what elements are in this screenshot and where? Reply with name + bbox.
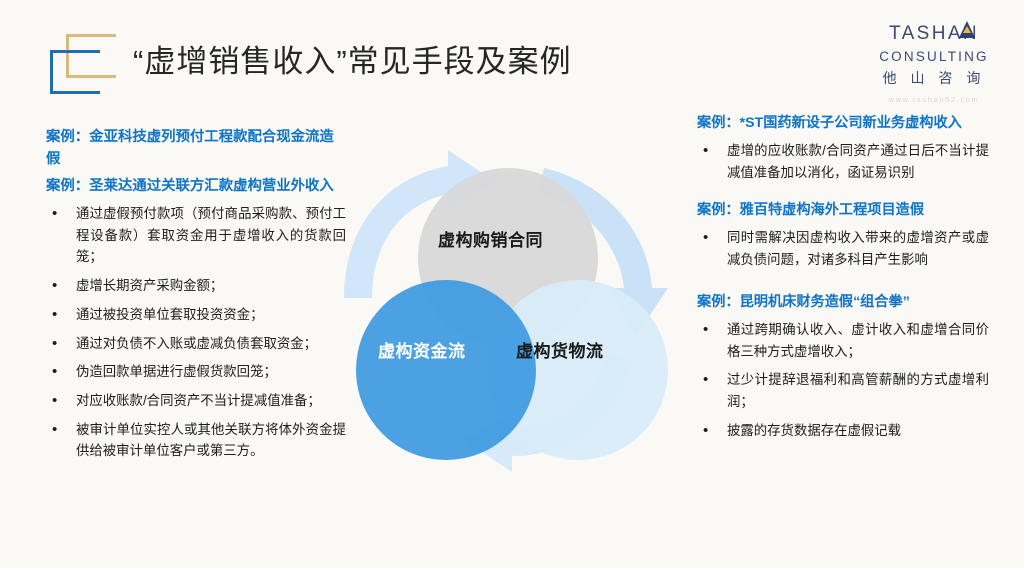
- venn-label-goods-flow: 虚构货物流: [516, 337, 604, 362]
- left-case-title-1: 案例：金亚科技虚列预付工程款配合现金流造假: [46, 126, 346, 171]
- list-item: 被审计单位实控人或其他关联方将体外资金提供给被审计单位客户或第三方。: [46, 419, 346, 462]
- venn-label-contract: 虚构购销合同: [438, 226, 543, 251]
- brand-subtitle: CONSULTING: [872, 50, 996, 64]
- list-item: 通过被投资单位套取投资资金；: [46, 304, 346, 326]
- slide-header: “虚增销售收入”常见手段及案例 TASHAN CONSULTING 他 山 咨 …: [0, 0, 1024, 110]
- right-case-title-3: 案例：昆明机床财务造假“组合拳”: [697, 291, 989, 313]
- right-bullet-list-1: 虚增的应收账款/合同资产通过日后不当计提减值准备加以消化，函证易识别: [697, 140, 989, 183]
- bracket-blue-shape: [50, 50, 100, 94]
- right-column: 案例：*ST国药新设子公司新业务虚构收入 虚增的应收账款/合同资产通过日后不当计…: [697, 112, 989, 448]
- right-case-title-2: 案例：雅百特虚构海外工程项目造假: [697, 199, 989, 221]
- slide-root: “虚增销售收入”常见手段及案例 TASHAN CONSULTING 他 山 咨 …: [0, 0, 1024, 568]
- brand-url: www.tashan52.com: [872, 96, 996, 104]
- right-bullet-list-2: 同时需解决因虚构收入带来的虚增资产或虚减负债问题，对诸多科目产生影响: [697, 227, 989, 270]
- mountain-icon: [959, 21, 975, 38]
- brand-chinese-name: 他 山 咨 询: [872, 71, 996, 85]
- list-item: 披露的存货数据存在虚假记载: [697, 420, 989, 442]
- brand-logo: TASHAN CONSULTING 他 山 咨 询 www.tashan52.c…: [872, 24, 996, 103]
- list-item: 对应收账款/合同资产不当计提减值准备；: [46, 390, 346, 412]
- venn-diagram: 虚构购销合同 虚构资金流 虚构货物流: [336, 148, 686, 496]
- bracket-logo-icon: [48, 32, 120, 100]
- list-item: 伪造回款单据进行虚假货款回笼；: [46, 361, 346, 383]
- page-title: “虚增销售收入”常见手段及案例: [133, 36, 572, 81]
- list-item: 虚增长期资产采购金额；: [46, 275, 346, 297]
- brand-name: TASHAN: [889, 24, 979, 43]
- list-item: 虚增的应收账款/合同资产通过日后不当计提减值准备加以消化，函证易识别: [697, 140, 989, 183]
- circle-cash-flow: [356, 280, 536, 460]
- list-item: 通过虚假预付款项（预付商品采购款、预付工程设备款）套取资金用于虚增收入的货款回笼…: [46, 203, 346, 268]
- venn-diagram-svg: [336, 148, 686, 496]
- left-bullet-list: 通过虚假预付款项（预付商品采购款、预付工程设备款）套取资金用于虚增收入的货款回笼…: [46, 203, 346, 462]
- list-item: 通过跨期确认收入、虚计收入和虚增合同价格三种方式虚增收入；: [697, 319, 989, 362]
- right-case-title-1: 案例：*ST国药新设子公司新业务虚构收入: [697, 112, 989, 134]
- list-item: 通过对负债不入账或虚减负债套取资金；: [46, 333, 346, 355]
- right-bullet-list-3: 通过跨期确认收入、虚计收入和虚增合同价格三种方式虚增收入； 过少计提辞退福利和高…: [697, 319, 989, 442]
- list-item: 同时需解决因虚构收入带来的虚增资产或虚减负债问题，对诸多科目产生影响: [697, 227, 989, 270]
- venn-label-cash-flow: 虚构资金流: [378, 337, 466, 362]
- left-column: 案例：金亚科技虚列预付工程款配合现金流造假 案例：圣莱达通过关联方汇款虚构营业外…: [46, 126, 346, 469]
- left-case-title-2: 案例：圣莱达通过关联方汇款虚构营业外收入: [46, 175, 346, 197]
- list-item: 过少计提辞退福利和高管薪酬的方式虚增利润；: [697, 369, 989, 412]
